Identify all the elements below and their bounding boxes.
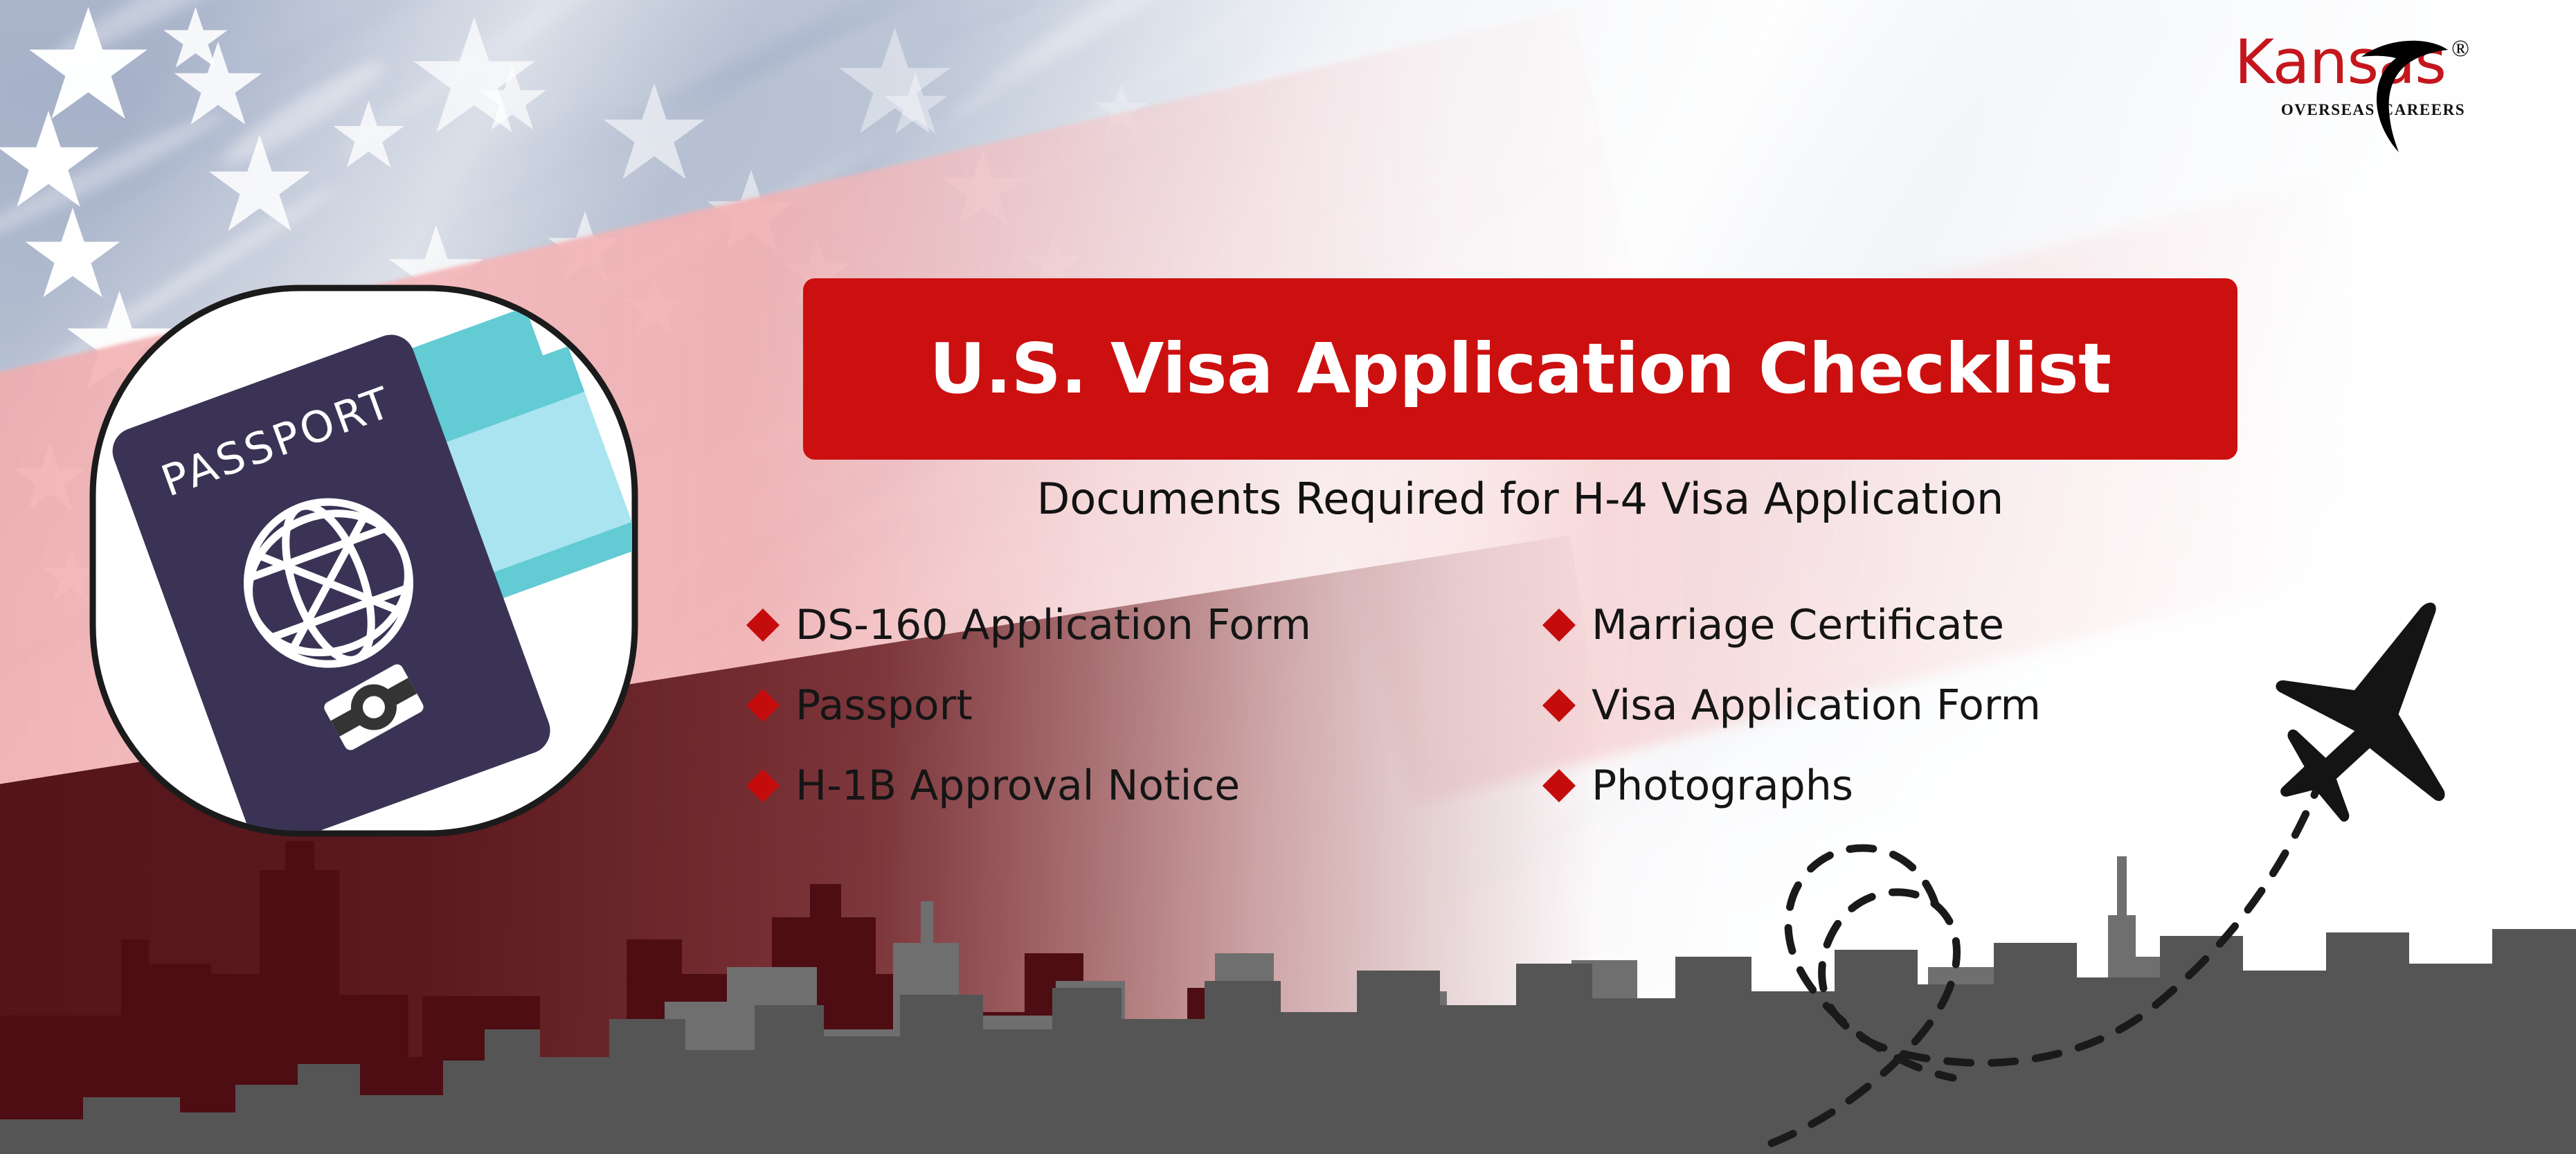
checklist-item-label: DS-160 Application Form [795,604,1311,646]
dashed-heart-lobe [1788,848,1953,1078]
checklist-item-label: Visa Application Form [1592,685,2041,726]
checklist-item[interactable]: H-1B Approval Notice [751,746,1547,826]
checklist-item[interactable]: Passport [751,665,1547,746]
checklist-column-right: Marriage Certificate Visa Application Fo… [1547,585,2343,826]
document-checklist: DS-160 Application Form Passport H-1B Ap… [751,585,2343,826]
checklist-column-left: DS-160 Application Form Passport H-1B Ap… [751,585,1547,826]
checklist-item[interactable]: Visa Application Form [1547,665,2343,746]
checklist-item-label: H-1B Approval Notice [795,765,1240,806]
checklist-item[interactable]: Marriage Certificate [1547,585,2343,665]
diamond-bullet-icon [746,608,780,642]
passport-illustration-card: PASSPORT [89,284,639,838]
page-subtitle: Documents Required for H-4 Visa Applicat… [803,478,2237,521]
diamond-bullet-icon [746,689,780,722]
title-banner: U.S. Visa Application Checklist [803,278,2237,460]
visa-checklist-banner: PASSPORT [0,0,2576,1154]
diamond-bullet-icon [1542,689,1576,722]
dashed-heart-flight-path-icon [1758,773,2323,1148]
checklist-item-label: Photographs [1592,765,1853,806]
checklist-item[interactable]: Photographs [1547,746,2343,826]
diamond-bullet-icon [1542,608,1576,642]
registered-trademark-icon: ® [2451,36,2469,62]
checklist-item-label: Marriage Certificate [1592,604,2004,646]
checklist-item[interactable]: DS-160 Application Form [751,585,1547,665]
diamond-bullet-icon [1542,769,1576,802]
brand-logo[interactable]: Kansas ® Overseas Careers [2057,32,2465,136]
page-title: U.S. Visa Application Checklist [930,334,2111,404]
swoosh-icon [2356,28,2460,156]
diamond-bullet-icon [746,769,780,802]
checklist-item-label: Passport [795,685,973,726]
